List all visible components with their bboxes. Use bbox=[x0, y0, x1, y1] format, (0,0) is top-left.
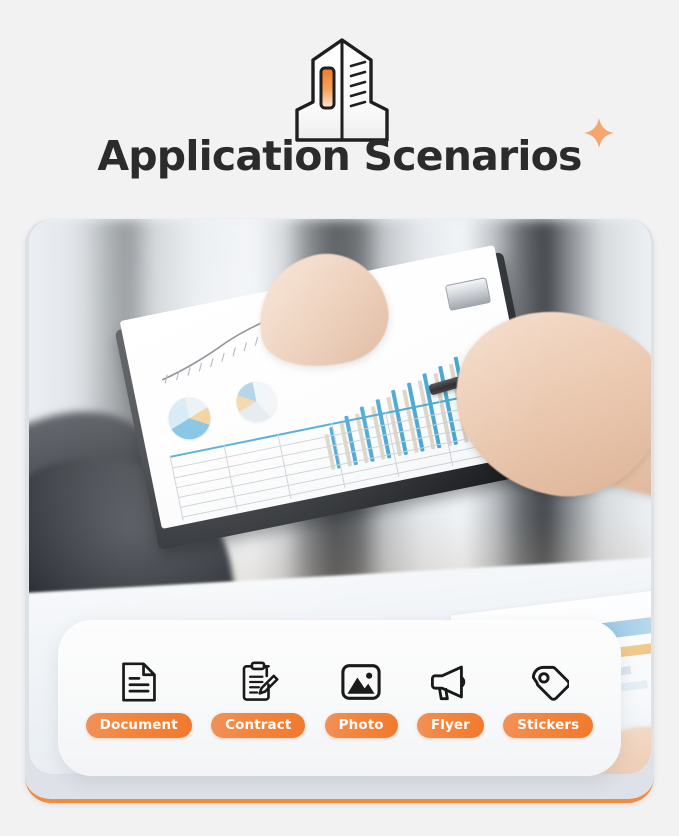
megaphone-icon bbox=[427, 659, 473, 705]
document-icon bbox=[116, 659, 162, 705]
category-item-stickers[interactable]: Stickers bbox=[503, 659, 593, 738]
page-title: Application Scenarios bbox=[97, 132, 581, 180]
category-chip-list: Document Contract bbox=[58, 620, 621, 776]
clipboard-pencil-icon bbox=[235, 659, 281, 705]
sparkle-icon bbox=[582, 116, 616, 150]
page-header: Application Scenarios bbox=[0, 0, 679, 212]
category-item-photo[interactable]: Photo bbox=[325, 659, 398, 738]
tag-icon bbox=[525, 659, 571, 705]
category-label-photo[interactable]: Photo bbox=[325, 713, 398, 738]
category-card: Document Contract bbox=[58, 620, 621, 776]
image-icon bbox=[338, 659, 384, 705]
category-label-contract[interactable]: Contract bbox=[211, 713, 305, 738]
page-title-row: Application Scenarios bbox=[0, 130, 679, 182]
building-icon bbox=[287, 36, 397, 142]
category-item-contract[interactable]: Contract bbox=[211, 659, 305, 738]
category-item-document[interactable]: Document bbox=[86, 659, 192, 738]
category-item-flyer[interactable]: Flyer bbox=[417, 659, 484, 738]
category-label-flyer[interactable]: Flyer bbox=[417, 713, 484, 738]
category-label-stickers[interactable]: Stickers bbox=[503, 713, 593, 738]
category-label-document[interactable]: Document bbox=[86, 713, 192, 738]
